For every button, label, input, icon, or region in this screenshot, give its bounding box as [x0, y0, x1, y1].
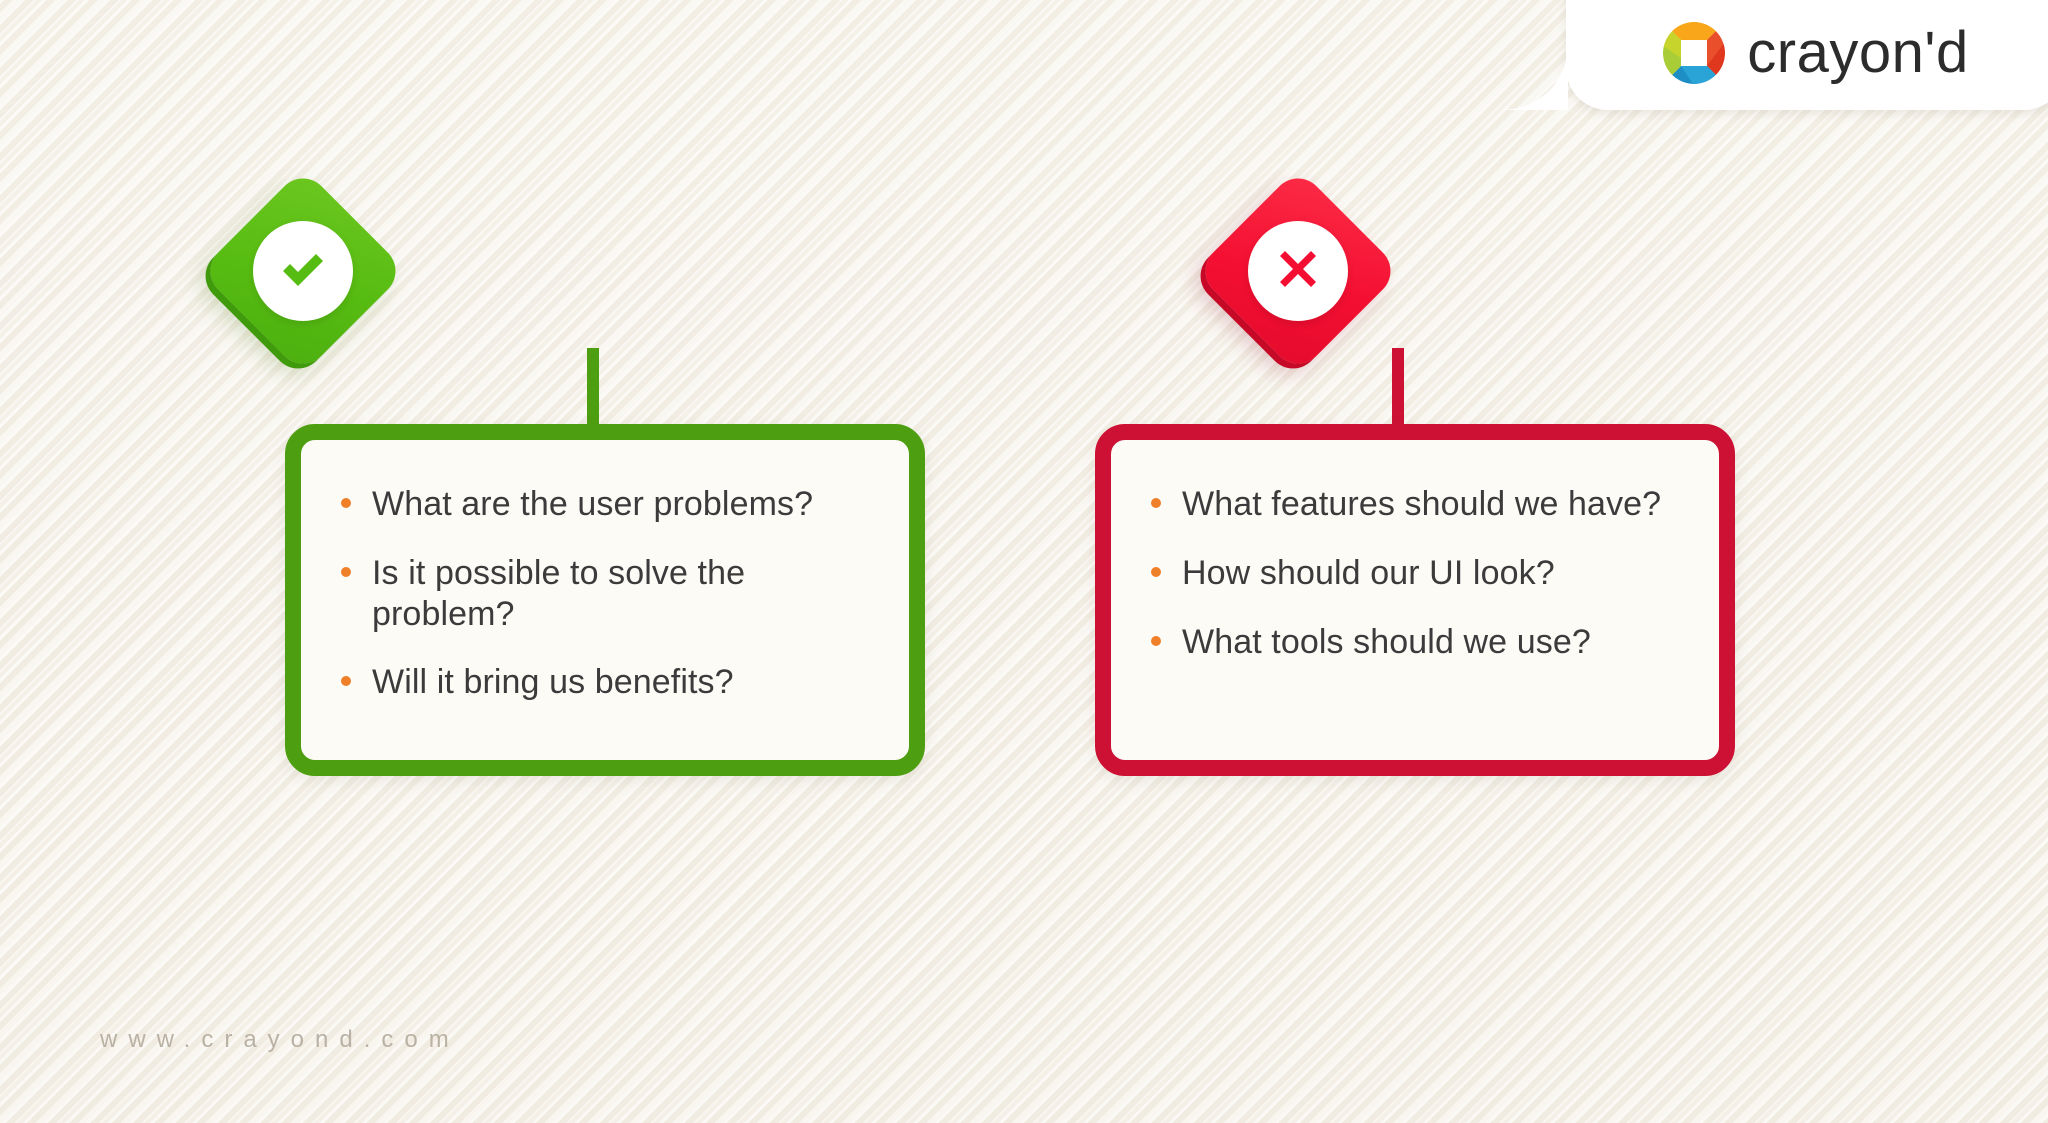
brand-wordmark: crayon'd — [1747, 24, 1968, 82]
bullet-list-wrong: What features should we have? How should… — [1151, 484, 1679, 662]
bullet-dot-icon — [1151, 567, 1161, 577]
bullet-dot-icon — [1151, 636, 1161, 646]
badge-circle-green — [253, 221, 353, 321]
bullet-dot-icon — [341, 676, 351, 686]
bullet-list-good: What are the user problems? Is it possib… — [341, 484, 869, 703]
badge-cross — [1205, 178, 1391, 364]
footer-website-url: www.crayond.com — [100, 1026, 460, 1054]
crayond-logo-icon — [1663, 22, 1725, 84]
list-item-label: What features should we have? — [1182, 484, 1661, 525]
card-wrong-questions: What features should we have? How should… — [1095, 424, 1735, 776]
list-item-label: Will it bring us benefits? — [372, 662, 734, 703]
list-item-label: How should our UI look? — [1182, 553, 1555, 594]
list-item: Is it possible to solve the problem? — [341, 553, 869, 635]
badge-circle-red — [1248, 221, 1348, 321]
brand-tab: crayon'd — [1566, 0, 2048, 110]
badge-check — [210, 178, 396, 364]
slide-canvas: crayon'd What are the user problems? Is … — [0, 0, 2048, 1123]
list-item: What tools should we use? — [1151, 622, 1679, 663]
bullet-dot-icon — [1151, 498, 1161, 508]
list-item-label: Is it possible to solve the problem? — [372, 553, 869, 635]
list-item-label: What tools should we use? — [1182, 622, 1591, 663]
bullet-dot-icon — [341, 567, 351, 577]
card-good-questions: What are the user problems? Is it possib… — [285, 424, 925, 776]
list-item-label: What are the user problems? — [372, 484, 813, 525]
list-item: What features should we have? — [1151, 484, 1679, 525]
cross-mark-icon — [1267, 238, 1329, 305]
brand-tab-curve — [1504, 46, 1568, 110]
check-mark-icon — [272, 238, 334, 305]
list-item: What are the user problems? — [341, 484, 869, 525]
bullet-dot-icon — [341, 498, 351, 508]
list-item: How should our UI look? — [1151, 553, 1679, 594]
brand-lockup: crayon'd — [1663, 22, 1968, 84]
list-item: Will it bring us benefits? — [341, 662, 869, 703]
